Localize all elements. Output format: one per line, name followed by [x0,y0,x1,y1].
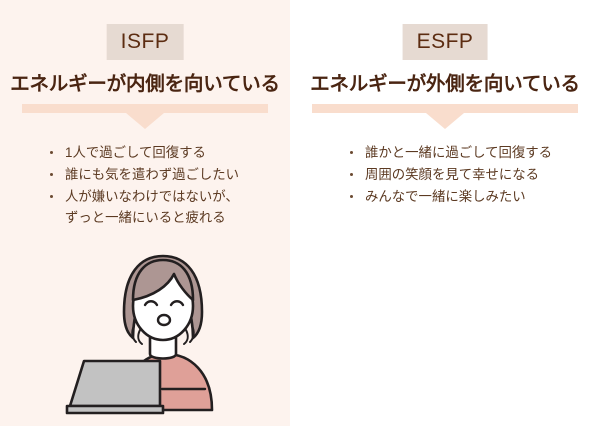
heading-esfp: エネルギーが外側を向いている [290,67,600,96]
arrow-down-icon [426,113,464,129]
list-item: 人が嫌いなわけではないが、 ずっと一緒にいると疲れる [48,186,239,228]
badge-isfp: ISFP [107,24,184,60]
list-item: 誰かと一緒に過ごして回復する [348,142,552,163]
bullet-line-continued: ずっと一緒にいると疲れる [65,207,239,228]
bullet-list-esfp: 誰かと一緒に過ごして回復する 周囲の笑顔を見て幸せになる みんなで一緒に楽しみた… [348,142,552,208]
arrow-down-icon [126,113,164,129]
bullet-line: 人が嫌いなわけではないが、 [65,186,239,207]
illustration-woman-with-laptop [62,248,262,418]
mbti-comparison-infographic: ISFP エネルギーが内側を向いている 1人で過ごして回復する 誰にも気を遣わず… [0,0,600,426]
heading-isfp: エネルギーが内側を向いている [0,67,290,96]
list-item: みんなで一緒に楽しみたい [348,186,552,207]
panel-esfp: ESFP エネルギーが外側を向いている 誰かと一緒に過ごして回復する 周囲の笑顔… [290,0,600,426]
bullet-line: みんなで一緒に楽しみたい [365,186,552,207]
divider-right [312,104,578,113]
badge-esfp: ESFP [403,24,488,60]
bullet-list-isfp: 1人で過ごして回復する 誰にも気を遣わず過ごしたい 人が嫌いなわけではないが、 … [48,142,239,229]
list-item: 周囲の笑顔を見て幸せになる [348,164,552,185]
bullet-line: 1人で過ごして回復する [65,142,239,163]
bullet-line: 周囲の笑顔を見て幸せになる [365,164,552,185]
list-item: 1人で過ごして回復する [48,142,239,163]
bullet-line: 誰かと一緒に過ごして回復する [365,142,552,163]
list-item: 誰にも気を遣わず過ごしたい [48,164,239,185]
bullet-line: 誰にも気を遣わず過ごしたい [65,164,239,185]
panel-isfp: ISFP エネルギーが内側を向いている 1人で過ごして回復する 誰にも気を遣わず… [0,0,290,426]
divider-left [22,104,268,113]
